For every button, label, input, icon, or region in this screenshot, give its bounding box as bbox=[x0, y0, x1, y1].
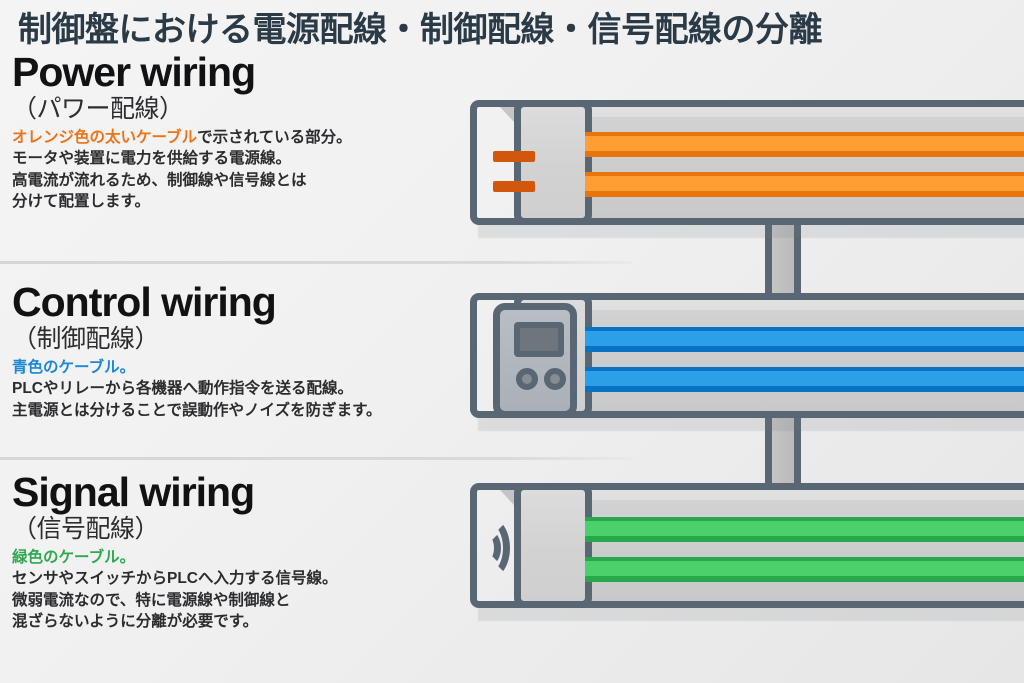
infographic-canvas: 制御盤における電源配線・制御配線・信号配線の分離 Power wiring （パ… bbox=[0, 0, 1024, 683]
power-lead-highlight: オレンジ色の太いケーブル bbox=[12, 129, 197, 146]
control-lead: 青色のケーブル。 bbox=[12, 358, 382, 378]
control-lead-highlight: 青色のケーブル。 bbox=[12, 359, 135, 376]
signal-duct-endcap bbox=[514, 483, 592, 608]
signal-duct-channel bbox=[532, 483, 1024, 608]
power-duct-endcap bbox=[514, 100, 592, 225]
signal-body-line-3: 混ざらないように分離が必要です。 bbox=[12, 611, 338, 632]
section-power-text: Power wiring （パワー配線） オレンジ色の太いケーブルで示されている… bbox=[12, 52, 352, 213]
control-cable-2-core bbox=[585, 371, 1024, 386]
signal-cable-1 bbox=[585, 517, 1024, 542]
signal-cable-2-core bbox=[585, 561, 1024, 576]
plc-screen-icon bbox=[514, 322, 564, 357]
control-cable-2 bbox=[585, 367, 1024, 392]
plc-button-icon-2 bbox=[544, 368, 566, 390]
power-cable-2-core bbox=[585, 176, 1024, 191]
power-duct-channel bbox=[532, 100, 1024, 225]
section-signal-text: Signal wiring （信号配線） 緑色のケーブル。 センサやスイッチから… bbox=[12, 472, 338, 633]
signal-subheading: （信号配線） bbox=[12, 515, 338, 543]
control-body-line-1: PLCやリレーから各機器へ動作指令を送る配線。 bbox=[12, 378, 382, 399]
terminal-stub-icon-2 bbox=[493, 181, 535, 192]
power-cable-2 bbox=[585, 172, 1024, 197]
control-subheading: （制御配線） bbox=[12, 325, 382, 353]
control-heading: Control wiring bbox=[12, 282, 382, 323]
signal-cable-2 bbox=[585, 557, 1024, 582]
signal-body-line-2: 微弱電流なので、特に電源線や制御線と bbox=[12, 590, 338, 611]
signal-cable-1-core bbox=[585, 521, 1024, 536]
signal-duct-highlight bbox=[532, 490, 1024, 500]
control-body-line-2: 主電源とは分けることで誤動作やノイズを防ぎます。 bbox=[12, 400, 382, 421]
power-body-line-1: モータや装置に電力を供給する電源線。 bbox=[12, 148, 352, 169]
signal-lead-highlight: 緑色のケーブル。 bbox=[12, 549, 135, 566]
power-body-line-2: 高電流が流れるため、制御線や信号線とは bbox=[12, 170, 352, 191]
power-lead-rest: で示されている部分。 bbox=[197, 129, 352, 146]
control-cable-1 bbox=[585, 327, 1024, 352]
signal-heading: Signal wiring bbox=[12, 472, 338, 513]
power-subheading: （パワー配線） bbox=[12, 95, 352, 123]
terminal-stub-icon-1 bbox=[493, 151, 535, 162]
section-divider-2 bbox=[0, 457, 632, 460]
signal-lead: 緑色のケーブル。 bbox=[12, 548, 338, 568]
control-duct-channel bbox=[532, 293, 1024, 418]
section-divider-1 bbox=[0, 261, 632, 264]
section-control-text: Control wiring （制御配線） 青色のケーブル。 PLCやリレーから… bbox=[12, 282, 382, 421]
control-cable-1-core bbox=[585, 331, 1024, 346]
power-lead: オレンジ色の太いケーブルで示されている部分。 bbox=[12, 128, 352, 148]
power-body-line-3: 分けて配置します。 bbox=[12, 191, 352, 212]
power-cable-1-core bbox=[585, 136, 1024, 151]
signal-body-line-1: センサやスイッチからPLCへ入力する信号線。 bbox=[12, 568, 338, 589]
power-cable-1 bbox=[585, 132, 1024, 157]
control-duct-highlight bbox=[532, 300, 1024, 310]
power-duct-highlight bbox=[532, 107, 1024, 117]
plc-button-icon-1 bbox=[516, 368, 538, 390]
power-heading: Power wiring bbox=[12, 52, 352, 93]
page-title: 制御盤における電源配線・制御配線・信号配線の分離 bbox=[18, 2, 1018, 51]
plc-device-icon bbox=[493, 303, 577, 418]
sensor-wave-icon-inner bbox=[479, 531, 501, 565]
